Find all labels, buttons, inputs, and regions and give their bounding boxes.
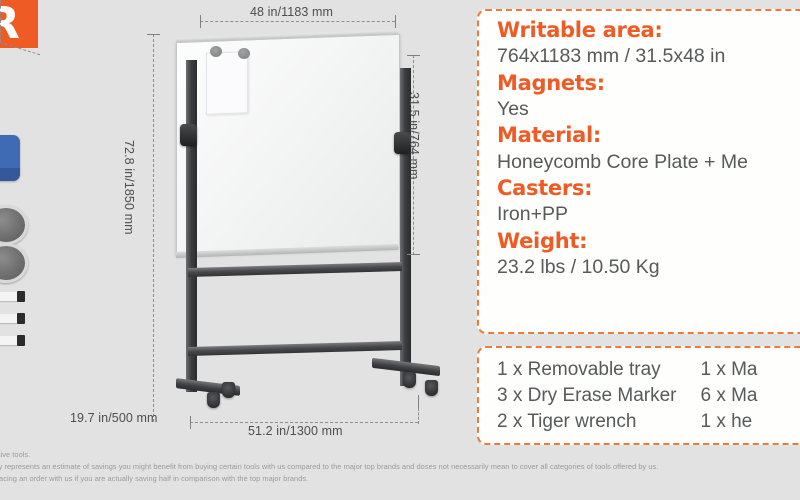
spec-value-casters: Iron+PP [497,202,800,227]
package-contents-column-right: 1 x Ma 6 x Ma 1 x he [700,357,757,434]
caster-wheel-icon [403,372,416,388]
package-contents-item: 3 x Dry Erase Marker [497,383,676,409]
pivot-knob-left [180,124,197,146]
dimension-leader-depth [0,42,40,55]
stand-upright-left [186,60,197,392]
footer-disclaimer-line: r us only represents an estimate of savi… [0,461,800,473]
spec-key-casters: Casters: [497,175,800,202]
spec-key-writable-area: Writable area: [497,17,800,44]
spec-key-weight: Weight: [497,228,800,255]
package-contents-item: 1 x Ma [700,357,757,383]
package-contents-item: 1 x he [700,409,757,435]
dimension-label-total-height: 72.8 in/1850 mm [122,140,136,235]
caster-wheel-icon [425,380,438,396]
spec-row: Casters: Iron+PP [497,175,800,228]
footer-disclaimer-line: st-effective tools. [0,449,800,461]
spec-value-weight: 23.2 lbs / 10.50 Kg [497,255,800,280]
spec-row: Material: Honeycomb Core Plate + Me [497,122,800,175]
dimension-tick [407,55,420,56]
specifications-list: Writable area: 764x1183 mm / 31.5x48 in … [497,17,800,280]
product-illustration: 48 in/1183 mm 31.5 in/764 mm 72.8 in/185… [0,0,470,450]
spec-value-magnets: Yes [497,97,800,122]
dimension-tick [147,34,160,35]
footer-disclaimer: st-effective tools. r us only represents… [0,449,800,485]
spec-row: Weight: 23.2 lbs / 10.50 Kg [497,228,800,281]
package-contents-item: 6 x Ma [700,383,757,409]
dimension-tick [407,254,420,255]
dimension-tick [418,395,419,408]
package-contents-item: 2 x Tiger wrench [497,409,676,435]
spec-row: Writable area: 764x1183 mm / 31.5x48 in [497,17,800,70]
dimension-tick [395,15,396,28]
spec-key-material: Material: [497,122,800,149]
dimension-tick [200,15,201,28]
dimension-line-base-width [190,422,418,423]
specifications-panel: Writable area: 764x1183 mm / 31.5x48 in … [477,9,800,334]
spec-key-magnets: Magnets: [497,70,800,97]
dimension-leader [0,0,1,20]
dimension-line-width [200,21,395,22]
package-contents-column-left: 1 x Removable tray 3 x Dry Erase Marker … [497,357,676,434]
dimension-tick [190,416,191,429]
dimension-leader [418,408,419,424]
stand-crossbar-upper [188,262,402,277]
dimension-label-base-width: 51.2 in/1300 mm [248,424,343,438]
dimension-label-width: 48 in/1183 mm [250,5,333,19]
whiteboard-paper-sheet [206,51,248,115]
stand-crossbar-lower [188,341,402,356]
spec-value-material: Honeycomb Core Plate + Me [497,150,800,175]
caster-wheel-icon [222,382,235,398]
whiteboard-magnet-icon [210,46,222,57]
dimension-line-total-height [153,34,154,422]
dimension-label-depth: 19.7 in/500 mm [70,411,158,425]
package-contents-grid: 1 x Removable tray 3 x Dry Erase Marker … [497,357,758,434]
caster-wheel-icon [207,392,220,408]
footer-disclaimer-line: u are placing an order with us if you ar… [0,473,800,485]
spec-row: Magnets: Yes [497,70,800,123]
spec-value-writable-area: 764x1183 mm / 31.5x48 in [497,44,800,69]
package-contents-panel: 1 x Removable tray 3 x Dry Erase Marker … [477,346,800,445]
package-contents-item: 1 x Removable tray [497,357,676,383]
whiteboard-magnet-icon [238,48,250,59]
dimension-label-face-height: 31.5 in/764 mm [407,92,421,180]
dimension-leader [0,20,1,42]
